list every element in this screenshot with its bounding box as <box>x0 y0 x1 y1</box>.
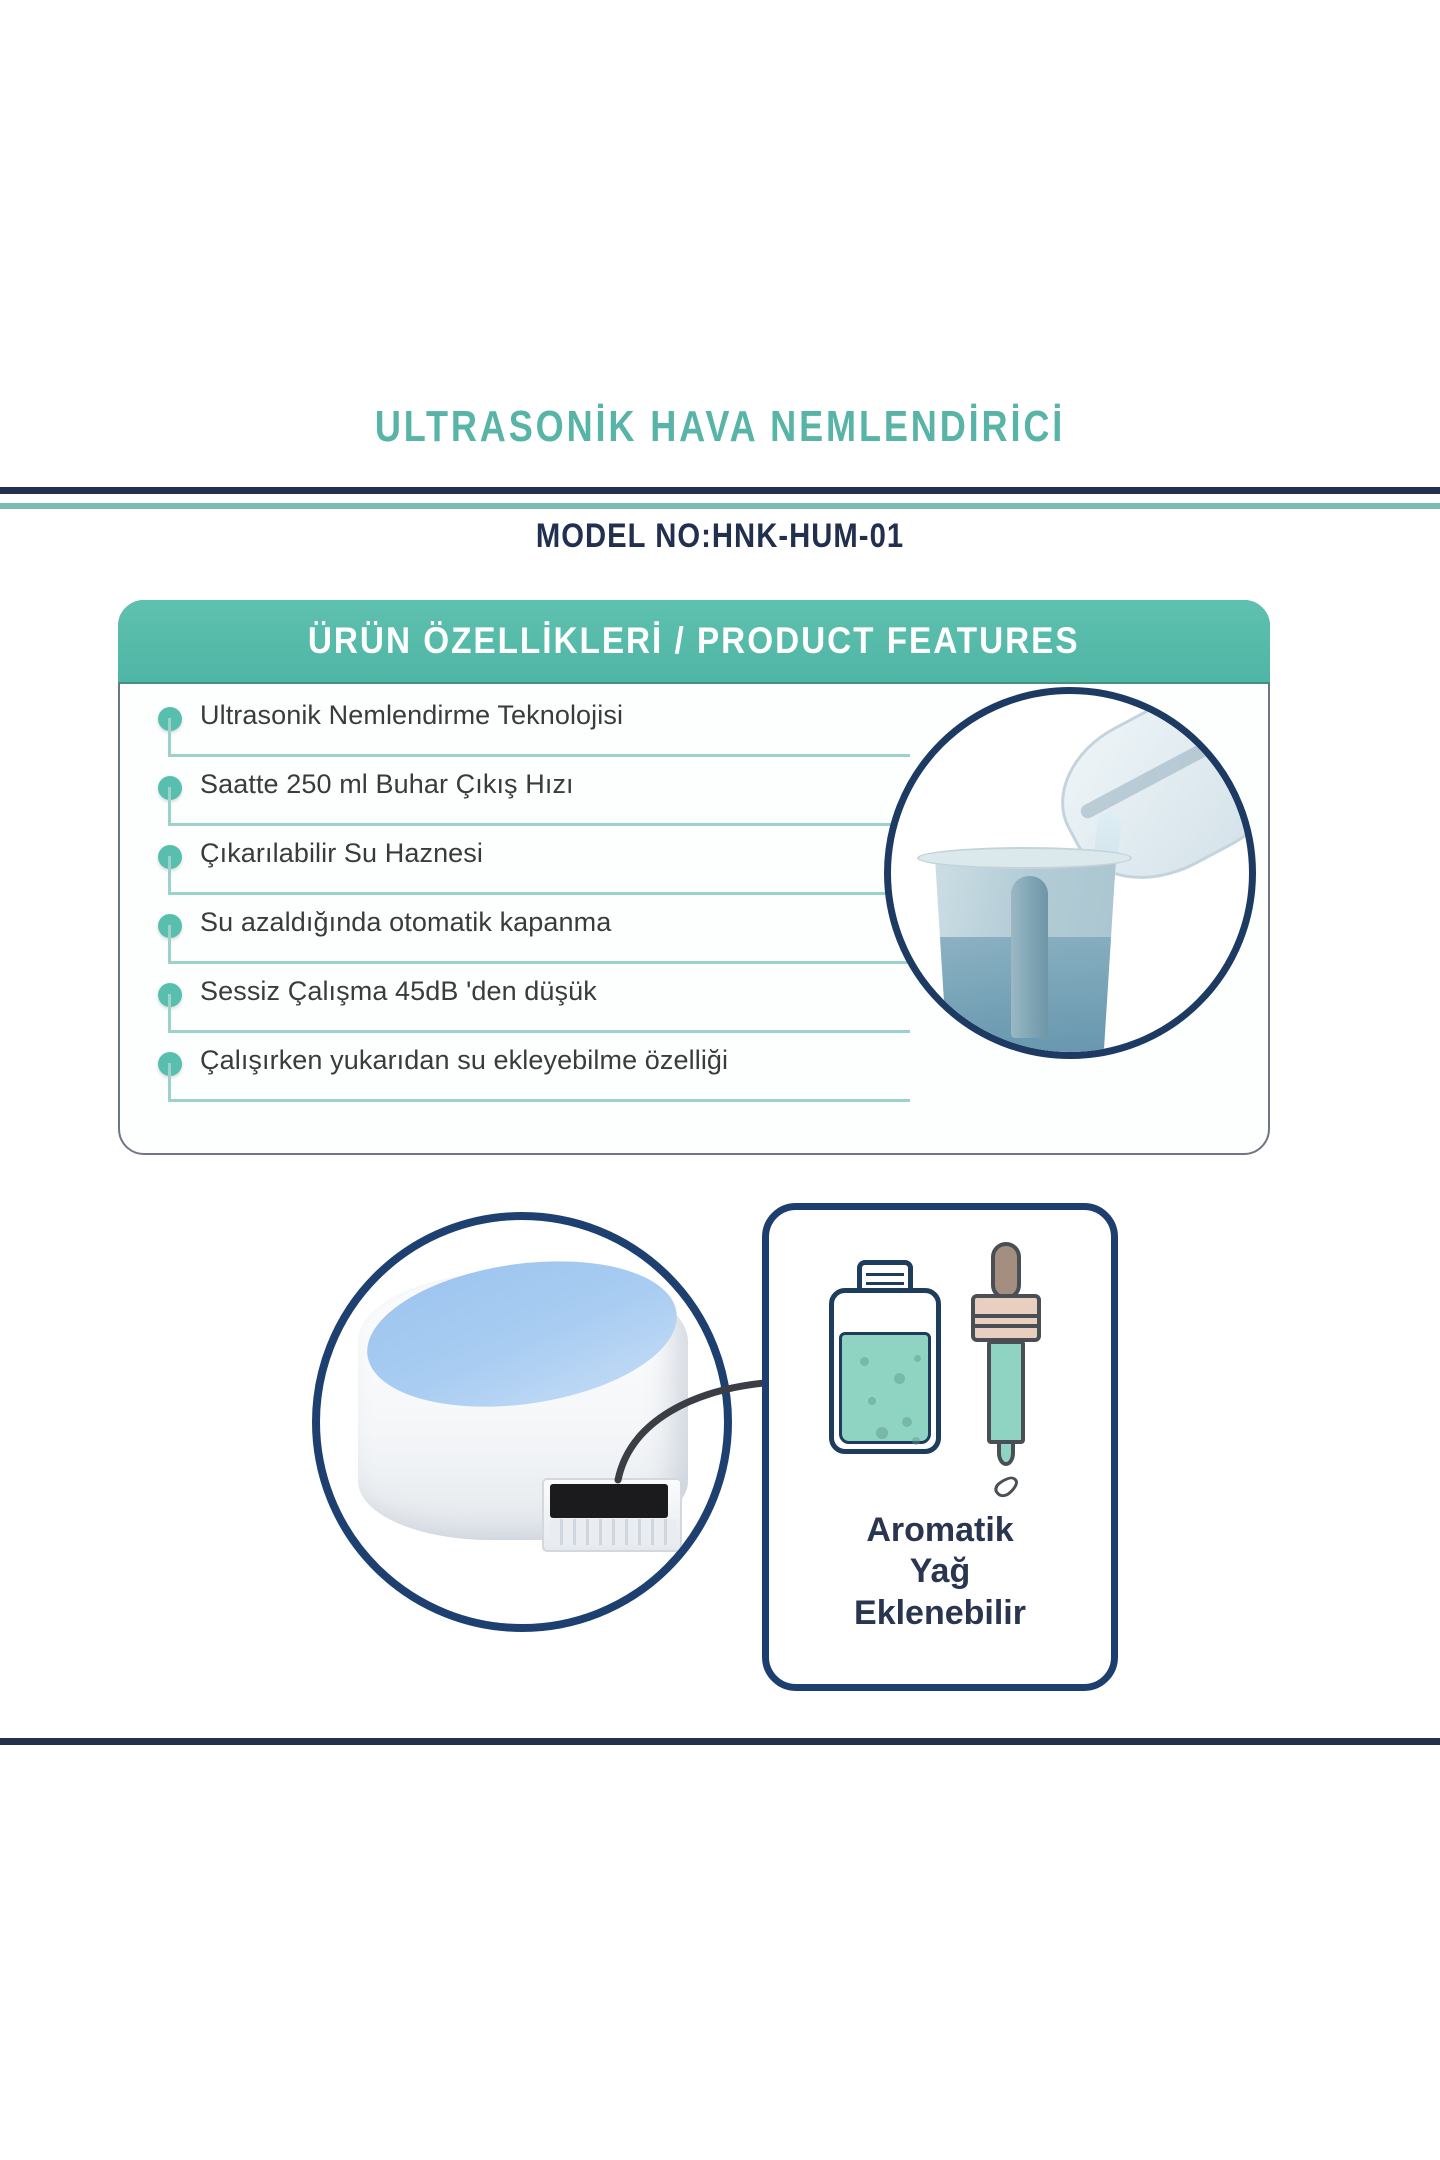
list-item: Ultrasonik Nemlendirme Teknolojisi <box>150 698 910 767</box>
tank-rim <box>917 847 1132 869</box>
page-title: ULTRASONİK HAVA NEMLENDİRİCİ <box>130 404 1311 450</box>
aroma-oil-graphic <box>795 1234 1095 1474</box>
aroma-caption-line-1: Aromatik <box>769 1510 1111 1551</box>
features-list: Ultrasonik Nemlendirme Teknolojisi Saatt… <box>150 698 910 1112</box>
humidifier-photo <box>312 1212 732 1632</box>
tank-center-tube <box>1011 876 1048 1038</box>
bottle-neck-ridge <box>866 1273 904 1276</box>
divider-navy-top <box>0 487 1440 494</box>
dropper-cap-ridge <box>975 1314 1037 1318</box>
bullet-stem <box>168 925 171 963</box>
bullet-underline <box>168 892 910 895</box>
bubble <box>914 1355 921 1362</box>
features-header-title: ÜRÜN ÖZELLİKLERİ / PRODUCT FEATURES <box>308 620 1080 662</box>
bullet-underline <box>168 961 910 964</box>
bottle-neck-ridge <box>866 1282 904 1285</box>
dropper-cap <box>971 1294 1041 1342</box>
pitcher-band <box>1079 728 1237 821</box>
aroma-drawer <box>542 1478 682 1552</box>
aroma-caption-line-2: Yağ <box>769 1551 1111 1592</box>
aroma-caption-line-3: Eklenebilir <box>769 1593 1111 1634</box>
list-item: Çalışırken yukarıdan su ekleyebilme özel… <box>150 1043 910 1112</box>
bullet-stem <box>168 1063 171 1101</box>
page-title-block: ULTRASONİK HAVA NEMLENDİRİCİ <box>0 404 1440 450</box>
feature-label: Çalışırken yukarıdan su ekleyebilme özel… <box>200 1045 728 1076</box>
list-item: Saatte 250 ml Buhar Çıkış Hızı <box>150 767 910 836</box>
oil-bottle-icon <box>829 1288 941 1454</box>
feature-label: Ultrasonik Nemlendirme Teknolojisi <box>200 700 623 731</box>
feature-label: Saatte 250 ml Buhar Çıkış Hızı <box>200 769 574 800</box>
bullet-stem <box>168 718 171 756</box>
bubble <box>902 1417 912 1427</box>
bullet-underline <box>168 1030 910 1033</box>
bubble <box>876 1427 888 1439</box>
feature-label: Sessiz Çalışma 45dB 'den düşük <box>200 976 597 1007</box>
aroma-drawer-slot <box>550 1484 668 1518</box>
dropper-cap-ridge <box>975 1324 1037 1328</box>
divider-teal-top <box>0 503 1440 509</box>
bullet-underline <box>168 823 910 826</box>
bullet-underline <box>168 754 910 757</box>
bullet-underline <box>168 1099 910 1102</box>
aroma-caption: Aromatik Yağ Eklenebilir <box>769 1510 1111 1634</box>
divider-navy-bottom <box>0 1738 1440 1745</box>
list-item: Su azaldığında otomatik kapanma <box>150 905 910 974</box>
aroma-drawer-ribs <box>550 1519 676 1545</box>
bubble <box>860 1357 869 1366</box>
dropper-tip <box>997 1440 1015 1466</box>
bullet-stem <box>168 787 171 825</box>
aroma-oil-panel: Aromatik Yağ Eklenebilir <box>762 1203 1118 1691</box>
bullet-stem <box>168 856 171 894</box>
bubble <box>868 1397 876 1405</box>
dropper-bulb-icon <box>991 1242 1021 1300</box>
feature-label: Su azaldığında otomatik kapanma <box>200 907 611 938</box>
water-pouring-photo <box>884 687 1256 1059</box>
product-features-card: ÜRÜN ÖZELLİKLERİ / PRODUCT FEATURES Ultr… <box>118 600 1270 1155</box>
features-header-bar: ÜRÜN ÖZELLİKLERİ / PRODUCT FEATURES <box>118 600 1270 684</box>
oil-bottle-liquid <box>839 1332 931 1444</box>
oil-drop-icon <box>991 1473 1023 1501</box>
bullet-stem <box>168 994 171 1032</box>
feature-label: Çıkarılabilir Su Haznesi <box>200 838 483 869</box>
bubble <box>912 1437 920 1445</box>
list-item: Sessiz Çalışma 45dB 'den düşük <box>150 974 910 1043</box>
model-number: MODEL NO:HNK-HUM-01 <box>101 517 1339 556</box>
bubble <box>894 1373 905 1384</box>
list-item: Çıkarılabilir Su Haznesi <box>150 836 910 905</box>
dropper-tube <box>987 1340 1025 1444</box>
